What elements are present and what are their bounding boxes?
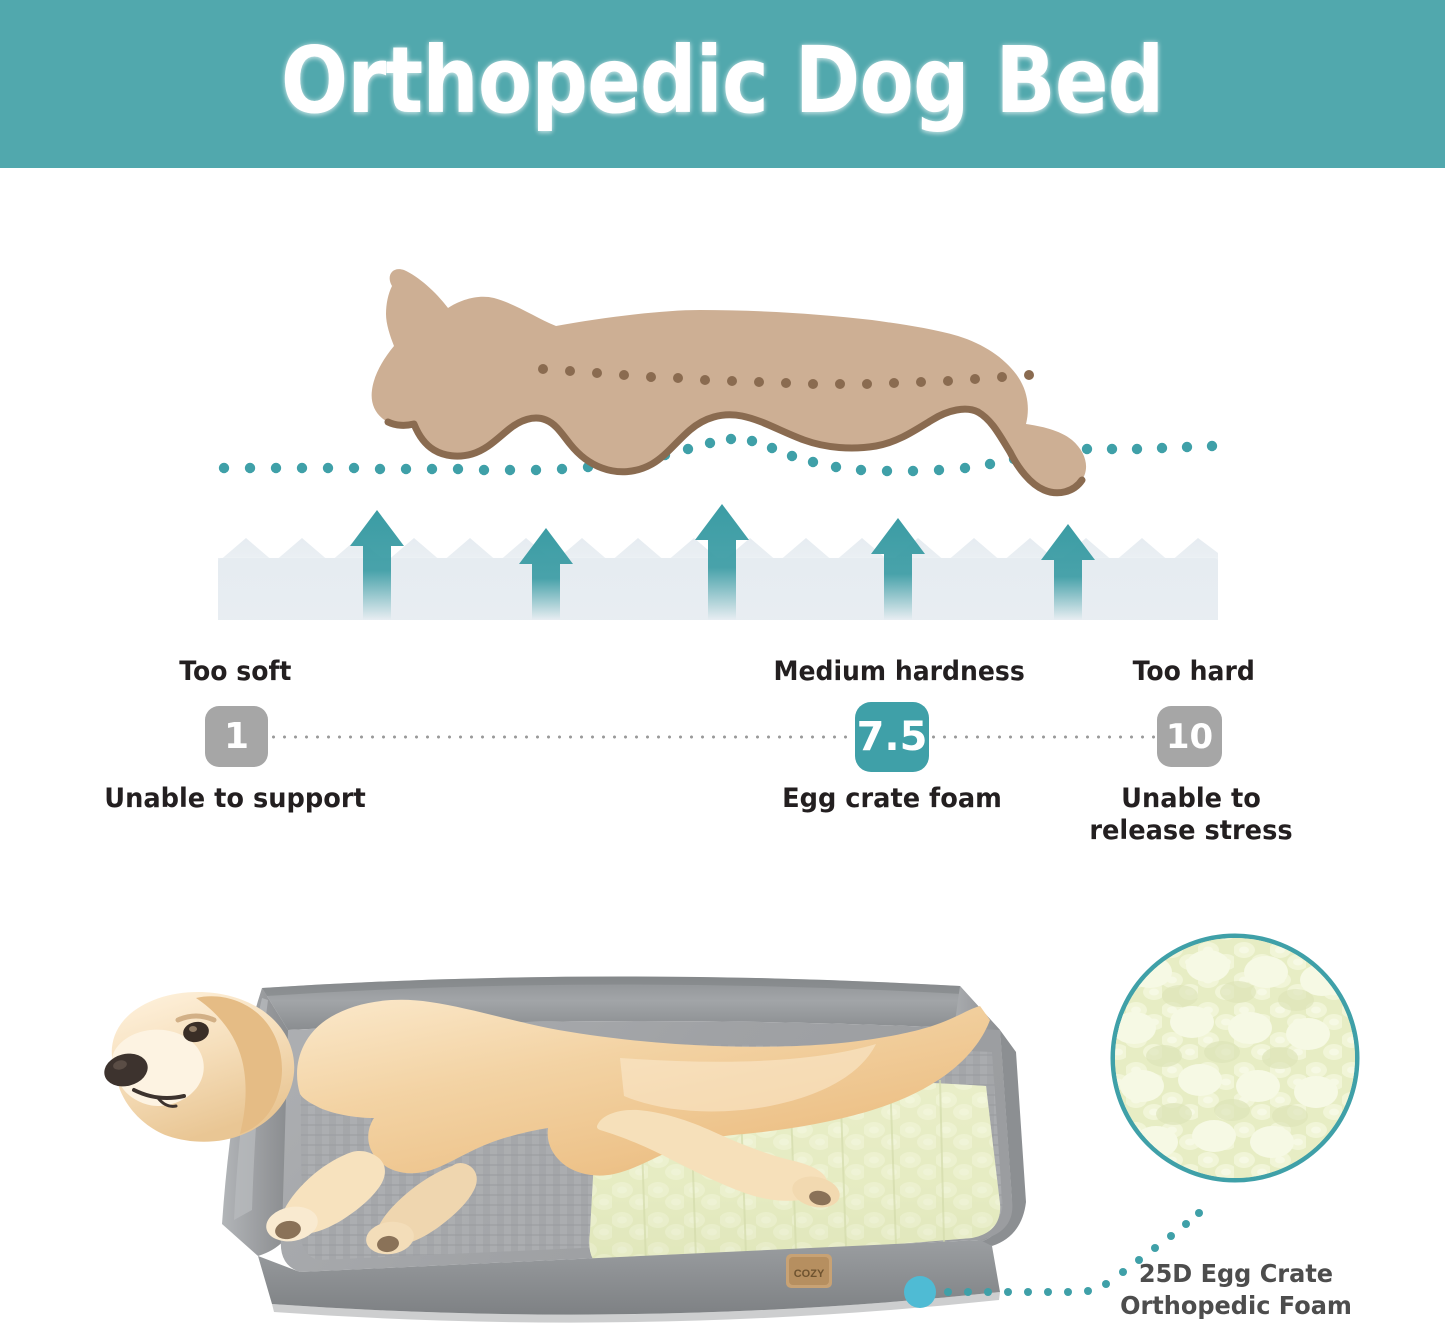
scale-badge-7-5[interactable]: 7.5 [855, 702, 929, 772]
scale-dotted-line-right [928, 735, 1160, 739]
scale-top-label-hard: Too hard [1133, 656, 1255, 687]
scale-top-label-medium: Medium hardness [773, 656, 1024, 687]
scale-top-label-soft: Too soft [179, 656, 291, 687]
callout-caption: 25D Egg Crate Orthopedic Foam [1105, 1258, 1366, 1322]
scale-bottom-label-medium: Egg crate foam [745, 783, 1040, 815]
scale-dotted-line-left [268, 735, 858, 739]
foam-marker [904, 1276, 936, 1308]
header-band: Orthopedic Dog Bed [0, 0, 1445, 168]
page-title: Orthopedic Dog Bed [281, 35, 1164, 133]
support-diagram-svg [0, 168, 1445, 620]
callout-caption-line2: Orthopedic Foam [1105, 1290, 1366, 1322]
hardness-scale: Too soft Medium hardness Too hard 1 7.5 … [0, 640, 1445, 870]
scale-badge-10[interactable]: 10 [1157, 706, 1222, 767]
brand-tag: COZY [786, 1254, 832, 1288]
egg-crate-foam-callout-circle [1112, 936, 1357, 1180]
svg-text:COZY: COZY [794, 1268, 825, 1280]
scale-badge-1[interactable]: 1 [205, 706, 268, 767]
callout-caption-line1: 25D Egg Crate [1105, 1258, 1366, 1290]
infographic-page: Orthopedic Dog Bed [0, 0, 1445, 1342]
scale-bottom-label-soft: Unable to support [69, 783, 402, 815]
scale-bottom-label-hard: Unable to release stress [1067, 783, 1316, 847]
support-diagram [0, 168, 1445, 620]
